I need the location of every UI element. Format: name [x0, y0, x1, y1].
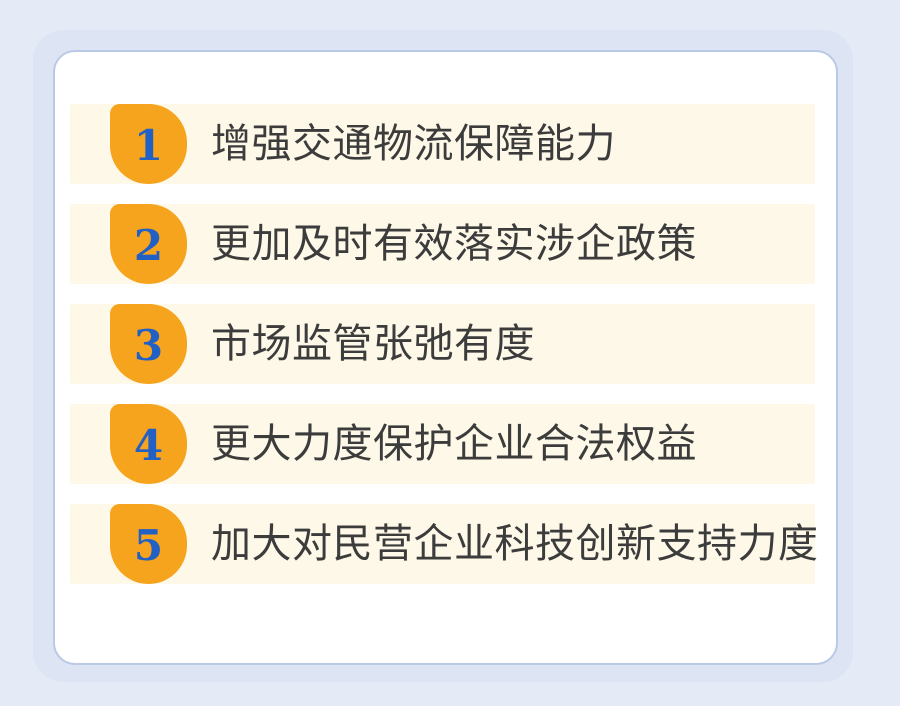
list-item-label: 市场监管张弛有度	[211, 322, 535, 366]
numbered-list: 1 增强交通物流保障能力 2 更加及时有效落实涉企政策 3 市场监管张弛有度	[70, 104, 836, 584]
list-item-label: 更大力度保护企业合法权益	[211, 422, 697, 466]
list-item-badge: 2	[110, 204, 187, 284]
list-item-label: 更加及时有效落实涉企政策	[211, 222, 697, 266]
list-item-badge: 4	[110, 404, 187, 484]
list-item-number: 4	[134, 425, 163, 467]
list-item: 3 市场监管张弛有度	[70, 304, 836, 384]
list-item-number: 3	[134, 325, 163, 367]
list-item-number: 5	[134, 525, 163, 567]
content-card: 1 增强交通物流保障能力 2 更加及时有效落实涉企政策 3 市场监管张弛有度	[53, 50, 838, 665]
list-item-label: 增强交通物流保障能力	[211, 122, 616, 166]
list-item-number: 2	[134, 225, 163, 267]
list-item: 4 更大力度保护企业合法权益	[70, 404, 836, 484]
page-root: 1 增强交通物流保障能力 2 更加及时有效落实涉企政策 3 市场监管张弛有度	[0, 0, 900, 706]
list-item: 5 加大对民营企业科技创新支持力度	[70, 504, 836, 584]
list-item: 1 增强交通物流保障能力	[70, 104, 836, 184]
list-item-label: 加大对民营企业科技创新支持力度	[211, 522, 819, 566]
list-item: 2 更加及时有效落实涉企政策	[70, 204, 836, 284]
list-item-badge: 1	[110, 104, 187, 184]
list-item-badge: 5	[110, 504, 187, 584]
list-item-number: 1	[134, 125, 163, 167]
list-item-badge: 3	[110, 304, 187, 384]
